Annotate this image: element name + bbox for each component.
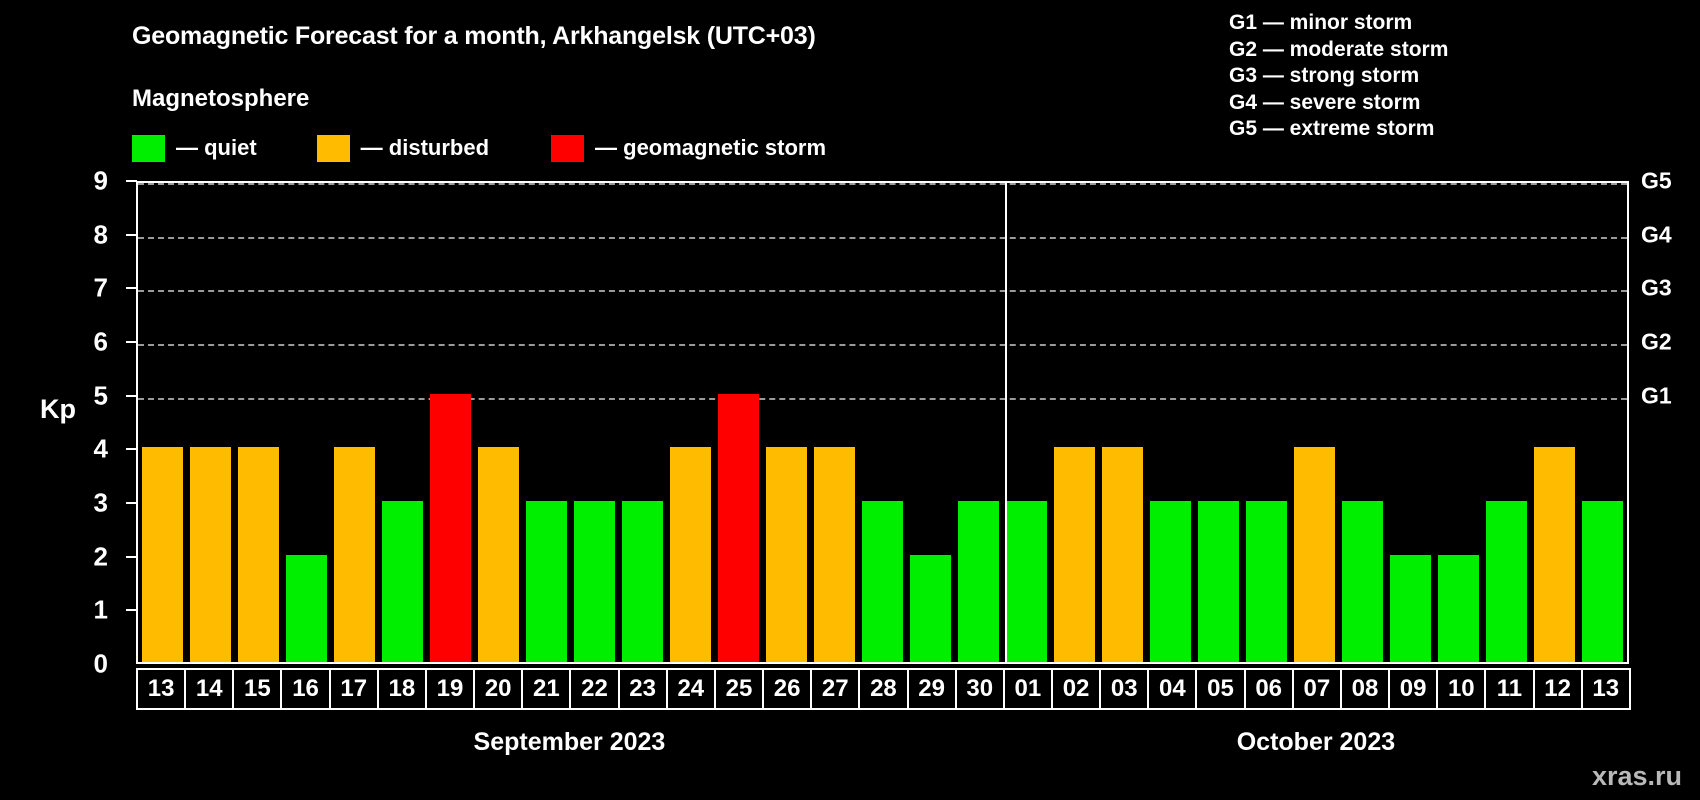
bar-september-27 (814, 447, 855, 662)
g-axis-label-G5: G5 (1641, 168, 1672, 195)
y-tick-label-5: 5 (66, 380, 108, 411)
g-axis-label-G1: G1 (1641, 382, 1672, 409)
day-label-october-06: 06 (1244, 668, 1294, 710)
bar-slot (955, 183, 1003, 662)
bar-slot (714, 183, 762, 662)
bar-september-13 (142, 447, 183, 662)
legend-swatch-disturbed (317, 135, 350, 162)
day-label-october-10: 10 (1436, 668, 1486, 710)
bar-slot (1579, 183, 1627, 662)
day-label-september-23: 23 (618, 668, 668, 710)
bar-october-09 (1390, 555, 1431, 662)
y-tick-label-7: 7 (66, 273, 108, 304)
day-label-september-25: 25 (714, 668, 764, 710)
bar-september-18 (382, 501, 423, 662)
bar-october-13 (1582, 501, 1623, 662)
bars-layer (138, 183, 1627, 662)
bar-september-20 (478, 447, 519, 662)
y-tick-label-8: 8 (66, 219, 108, 250)
legend-item-storm: — geomagnetic storm (551, 135, 826, 162)
day-label-october-09: 09 (1388, 668, 1438, 710)
y-tick-label-4: 4 (66, 434, 108, 465)
bar-september-28 (862, 501, 903, 662)
bar-slot (426, 183, 474, 662)
bar-september-30 (958, 501, 999, 662)
bar-october-02 (1054, 447, 1095, 662)
bar-slot (858, 183, 906, 662)
day-label-september-15: 15 (232, 668, 282, 710)
bar-slot (618, 183, 666, 662)
bar-september-26 (766, 447, 807, 662)
day-label-october-01: 01 (1003, 668, 1053, 710)
bar-slot (1435, 183, 1483, 662)
month-divider (1005, 183, 1007, 662)
legend-label-quiet: — quiet (176, 135, 257, 161)
bar-slot (666, 183, 714, 662)
bar-slot (762, 183, 810, 662)
bar-slot (1147, 183, 1195, 662)
bar-slot (1243, 183, 1291, 662)
legend-label-disturbed: — disturbed (361, 135, 489, 161)
day-label-september-17: 17 (329, 668, 379, 710)
plot-inner (138, 183, 1627, 662)
bar-slot (138, 183, 186, 662)
day-label-october-12: 12 (1533, 668, 1583, 710)
bar-slot (378, 183, 426, 662)
bar-slot (330, 183, 378, 662)
month-caption-september: September 2023 (474, 728, 666, 757)
y-tick-label-0: 0 (66, 649, 108, 680)
g-scale-legend-line: G5 — extreme storm (1229, 116, 1448, 143)
bar-slot (474, 183, 522, 662)
bar-october-11 (1486, 501, 1527, 662)
legend-item-disturbed: — disturbed (317, 135, 489, 162)
day-label-september-27: 27 (810, 668, 860, 710)
day-label-september-22: 22 (569, 668, 619, 710)
bar-september-23 (622, 501, 663, 662)
day-label-september-28: 28 (858, 668, 908, 710)
g-axis-label-G2: G2 (1641, 329, 1672, 356)
bar-october-04 (1150, 501, 1191, 662)
legend-label-storm: — geomagnetic storm (595, 135, 826, 161)
bar-september-25 (718, 394, 759, 662)
g-scale-legend-line: G2 — moderate storm (1229, 37, 1448, 64)
bar-september-24 (670, 447, 711, 662)
day-label-september-14: 14 (184, 668, 234, 710)
bar-october-10 (1438, 555, 1479, 662)
day-label-october-05: 05 (1195, 668, 1245, 710)
day-label-september-24: 24 (666, 668, 716, 710)
bar-october-07 (1294, 447, 1335, 662)
day-label-october-08: 08 (1340, 668, 1390, 710)
bar-october-03 (1102, 447, 1143, 662)
bar-slot (1339, 183, 1387, 662)
bar-slot (522, 183, 570, 662)
bar-september-14 (190, 447, 231, 662)
day-label-october-02: 02 (1051, 668, 1101, 710)
bar-september-19 (430, 394, 471, 662)
day-label-september-26: 26 (762, 668, 812, 710)
g-axis-label-G3: G3 (1641, 275, 1672, 302)
bar-slot (810, 183, 858, 662)
bar-slot (907, 183, 955, 662)
day-label-october-11: 11 (1484, 668, 1534, 710)
bar-slot (1051, 183, 1099, 662)
color-legend: — quiet — disturbed — geomagnetic storm (132, 133, 826, 163)
day-label-september-29: 29 (907, 668, 957, 710)
y-tick-label-2: 2 (66, 541, 108, 572)
y-tick-label-9: 9 (66, 166, 108, 197)
y-tick-label-6: 6 (66, 327, 108, 358)
legend-item-quiet: — quiet (132, 135, 257, 162)
day-label-october-13: 13 (1581, 668, 1631, 710)
bar-september-21 (526, 501, 567, 662)
day-label-september-30: 30 (955, 668, 1005, 710)
magnetosphere-heading: Magnetosphere (132, 85, 309, 113)
plot-area (136, 181, 1629, 664)
y-tick-label-1: 1 (66, 595, 108, 626)
bar-slot (1531, 183, 1579, 662)
bar-october-05 (1198, 501, 1239, 662)
day-label-september-21: 21 (521, 668, 571, 710)
bar-slot (234, 183, 282, 662)
day-label-october-04: 04 (1147, 668, 1197, 710)
day-axis: 1314151617181920212223242526272829300102… (136, 668, 1629, 710)
g-scale-legend-line: G4 — severe storm (1229, 90, 1448, 117)
month-caption-october: October 2023 (1237, 728, 1395, 757)
g-axis-label-G4: G4 (1641, 221, 1672, 248)
page-title: Geomagnetic Forecast for a month, Arkhan… (132, 22, 816, 51)
bar-slot (1003, 183, 1051, 662)
day-label-september-13: 13 (136, 668, 186, 710)
bar-october-12 (1534, 447, 1575, 662)
bar-slot (1483, 183, 1531, 662)
g-scale-legend-line: G3 — strong storm (1229, 63, 1448, 90)
legend-swatch-quiet (132, 135, 165, 162)
bar-september-22 (574, 501, 615, 662)
day-label-september-20: 20 (473, 668, 523, 710)
bar-slot (186, 183, 234, 662)
day-label-september-19: 19 (425, 668, 475, 710)
y-tick-label-3: 3 (66, 488, 108, 519)
day-label-september-18: 18 (377, 668, 427, 710)
bar-september-17 (334, 447, 375, 662)
g-scale-legend: G1 — minor storm G2 — moderate storm G3 … (1229, 10, 1448, 143)
day-label-september-16: 16 (280, 668, 330, 710)
bar-slot (1387, 183, 1435, 662)
legend-swatch-storm (551, 135, 584, 162)
bar-september-16 (286, 555, 327, 662)
bar-october-01 (1006, 501, 1047, 662)
bar-september-15 (238, 447, 279, 662)
bar-slot (570, 183, 618, 662)
watermark: xras.ru (1592, 761, 1682, 792)
bar-slot (282, 183, 330, 662)
bar-slot (1099, 183, 1147, 662)
bar-slot (1195, 183, 1243, 662)
bar-october-06 (1246, 501, 1287, 662)
bar-september-29 (910, 555, 951, 662)
day-label-october-07: 07 (1292, 668, 1342, 710)
bar-slot (1291, 183, 1339, 662)
day-label-october-03: 03 (1099, 668, 1149, 710)
bar-october-08 (1342, 501, 1383, 662)
g-scale-legend-line: G1 — minor storm (1229, 10, 1448, 37)
